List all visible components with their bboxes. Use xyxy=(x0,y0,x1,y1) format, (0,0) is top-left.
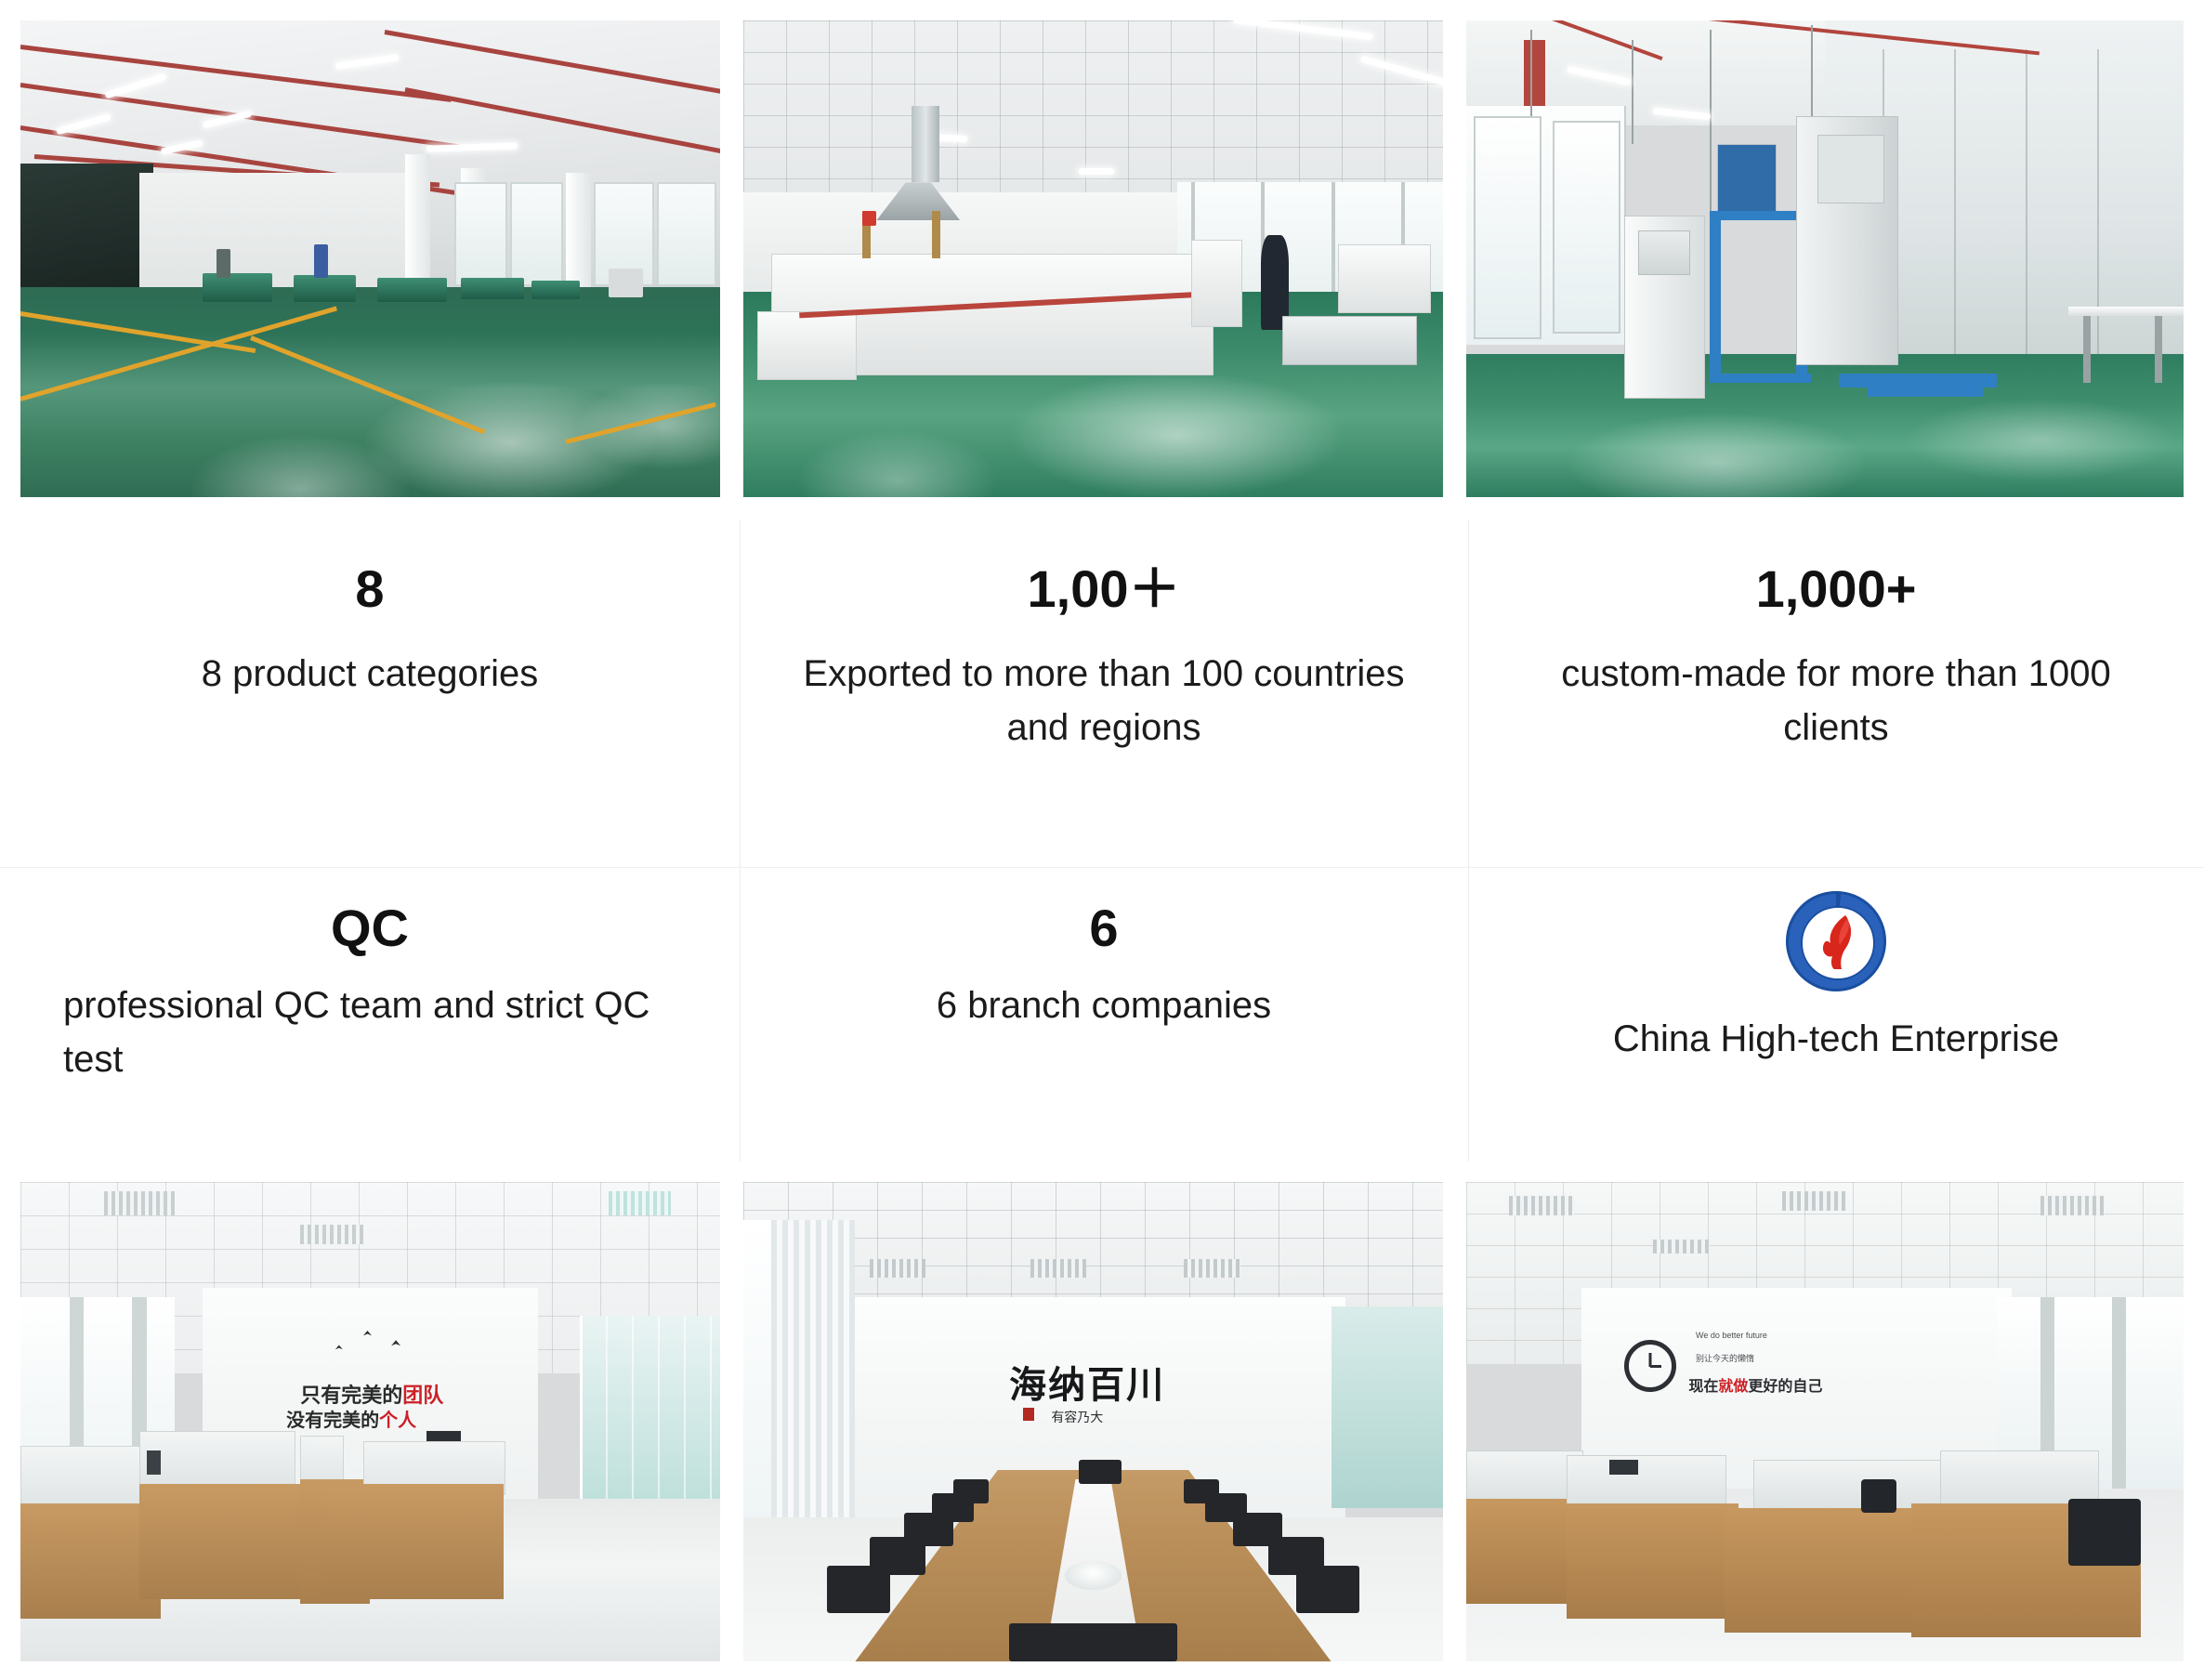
china-high-tech-enterprise-logo-icon xyxy=(1786,891,1886,991)
stat-number: QC xyxy=(331,902,409,954)
wall-decal-subtext: We do better future xyxy=(1696,1331,1767,1340)
stat-cell-product-categories: 8 8 product categories xyxy=(0,520,740,867)
photo-office-workstations: We do better future 别让今天的懒惰 现在就做更好的自己 xyxy=(1466,1182,2184,1661)
stat-description: professional QC team and strict QC test xyxy=(63,978,676,1086)
stats-row-2: QC professional QC team and strict QC te… xyxy=(0,867,2204,1162)
stat-description: China High-tech Enterprise xyxy=(1613,1012,2059,1066)
photo-vertical-furnace-station xyxy=(1466,20,2184,497)
stat-description: 8 product categories xyxy=(202,647,538,701)
stat-cell-exported-countries: 1,00＋ Exported to more than 100 countrie… xyxy=(740,520,1468,867)
top-photo-row xyxy=(0,20,2204,497)
flame-icon xyxy=(1817,913,1856,969)
wall-clock-decal-icon xyxy=(1624,1340,1676,1392)
photo-tunnel-furnace-line xyxy=(743,20,1443,497)
stats-grid: 8 8 product categories 1,00＋ Exported to… xyxy=(0,520,2204,1162)
stat-cell-high-tech-enterprise: China High-tech Enterprise xyxy=(1468,867,2204,1162)
stat-number: 6 xyxy=(1089,902,1118,954)
meeting-room-calligraphy-sub: 有容乃大 xyxy=(1051,1408,1103,1426)
office-wall-slogan-line1: 只有完美的团队 xyxy=(300,1379,443,1409)
stat-description: Exported to more than 100 countries and … xyxy=(797,647,1410,755)
stats-row-1: 8 8 product categories 1,00＋ Exported to… xyxy=(0,520,2204,867)
office-wall-slogan-line2: 没有完美的个人 xyxy=(286,1405,416,1432)
stat-cell-custom-made-clients: 1,000+ custom-made for more than 1000 cl… xyxy=(1468,520,2204,867)
stat-number: 1,00＋ xyxy=(1028,563,1181,615)
wall-decal-subtext-2: 别让今天的懒惰 xyxy=(1696,1352,1754,1364)
stat-cell-qc-team: QC professional QC team and strict QC te… xyxy=(0,867,740,1162)
photo-conference-room: 海纳百川 有容乃大 xyxy=(743,1182,1443,1661)
photo-open-plan-office: 只有完美的团队 没有完美的个人 xyxy=(20,1182,720,1661)
stat-number: 1,000+ xyxy=(1756,563,1917,615)
stat-number: 8 xyxy=(355,563,384,615)
stat-description: custom-made for more than 1000 clients xyxy=(1515,647,2157,755)
wall-decal-text: 现在就做更好的自己 xyxy=(1688,1373,1822,1396)
bottom-photo-row: 只有完美的团队 没有完美的个人 xyxy=(0,1182,2204,1661)
stat-cell-branch-companies: 6 6 branch companies xyxy=(740,867,1468,1162)
photo-workshop-production-line xyxy=(20,20,720,497)
stat-description: 6 branch companies xyxy=(937,978,1271,1032)
company-profile-infographic: 8 8 product categories 1,00＋ Exported to… xyxy=(0,0,2204,1680)
meeting-room-calligraphy: 海纳百川 xyxy=(1009,1355,1165,1409)
